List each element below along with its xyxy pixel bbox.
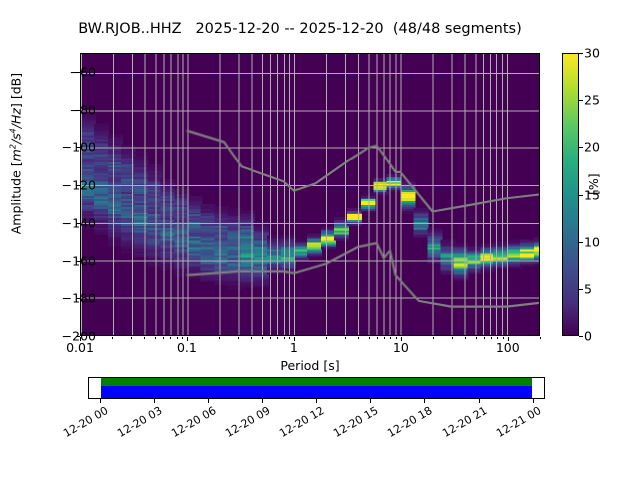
x-tick-minor bbox=[358, 337, 359, 339]
x-tick-label: 10 bbox=[361, 340, 441, 355]
colorbar-tick-mark bbox=[579, 195, 583, 196]
x-tick-minor bbox=[177, 337, 178, 339]
timeline-tick-label: 12-20 21 bbox=[434, 404, 489, 443]
ppsd-figure: BW.RJOB..HHZ 2025-12-20 -- 2025-12-20 (4… bbox=[0, 0, 640, 480]
y-tick-mark bbox=[76, 185, 80, 186]
x-tick-minor bbox=[112, 337, 113, 339]
x-tick-minor bbox=[345, 337, 346, 339]
colorbar-tick-mark bbox=[579, 336, 583, 337]
x-tick-minor bbox=[465, 337, 466, 339]
colorbar-tick-label: 10 bbox=[584, 234, 624, 249]
coverage-band-green bbox=[101, 378, 532, 386]
x-tick-minor bbox=[238, 337, 239, 339]
x-tick-label: 100 bbox=[468, 340, 548, 355]
timeline-tick-mark bbox=[208, 399, 209, 403]
coverage-band-blue bbox=[101, 386, 532, 398]
page-title: BW.RJOB..HHZ 2025-12-20 -- 2025-12-20 (4… bbox=[0, 21, 600, 37]
x-tick-minor bbox=[369, 337, 370, 339]
x-tick-minor bbox=[503, 337, 504, 339]
timeline-tick-label: 12-20 00 bbox=[55, 404, 110, 443]
colorbar-tick-label: 30 bbox=[584, 46, 624, 61]
y-tick-mark bbox=[76, 72, 80, 73]
colorbar-tick-mark bbox=[579, 53, 583, 54]
x-tick-minor bbox=[484, 337, 485, 339]
x-tick-minor bbox=[170, 337, 171, 339]
coverage-timeline[interactable] bbox=[88, 377, 545, 399]
x-tick-mark bbox=[80, 337, 81, 341]
x-tick-minor bbox=[326, 337, 327, 339]
x-tick-label: 0.01 bbox=[40, 340, 120, 355]
x-tick-minor bbox=[182, 337, 183, 339]
x-tick-minor bbox=[262, 337, 263, 339]
y-tick-label: −180 bbox=[0, 291, 96, 306]
colorbar-tick-label: 0 bbox=[584, 329, 624, 344]
x-tick-label: 0.1 bbox=[147, 340, 227, 355]
timeline-tick-mark bbox=[316, 399, 317, 403]
x-axis-label: Period [s] bbox=[80, 358, 540, 373]
x-tick-label: 1 bbox=[254, 340, 334, 355]
colorbar-tick-mark bbox=[579, 100, 583, 101]
x-tick-minor bbox=[289, 337, 290, 339]
y-tick-label: −140 bbox=[0, 215, 96, 230]
x-tick-minor bbox=[540, 337, 541, 339]
y-tick-mark bbox=[76, 298, 80, 299]
timeline-tick-label: 12-20 06 bbox=[164, 404, 219, 443]
x-tick-mark bbox=[187, 337, 188, 341]
timeline-tick-label: 12-20 03 bbox=[109, 404, 164, 443]
y-tick-mark bbox=[76, 223, 80, 224]
timeline-tick-label: 12-20 09 bbox=[218, 404, 273, 443]
x-tick-minor bbox=[163, 337, 164, 339]
x-tick-minor bbox=[452, 337, 453, 339]
timeline-tick-label: 12-20 12 bbox=[272, 404, 327, 443]
x-tick-mark bbox=[294, 337, 295, 341]
timeline-tick-mark bbox=[479, 399, 480, 403]
x-tick-mark bbox=[401, 337, 402, 341]
timeline-tick-mark bbox=[154, 399, 155, 403]
y-tick-mark bbox=[76, 147, 80, 148]
colorbar-tick-mark bbox=[579, 242, 583, 243]
x-tick-minor bbox=[390, 337, 391, 339]
psd-histogram-canvas bbox=[81, 54, 539, 335]
x-tick-minor bbox=[284, 337, 285, 339]
timeline-tick-mark bbox=[533, 399, 534, 403]
y-tick-label: −60 bbox=[0, 64, 96, 79]
colorbar-tick-label: 25 bbox=[584, 93, 624, 108]
colorbar bbox=[562, 53, 579, 336]
y-tick-label: −80 bbox=[0, 102, 96, 117]
timeline-tick-mark bbox=[100, 399, 101, 403]
x-tick-minor bbox=[144, 337, 145, 339]
timeline-tick-label: 12-20 15 bbox=[326, 404, 381, 443]
colorbar-tick-mark bbox=[579, 289, 583, 290]
timeline-tick-mark bbox=[424, 399, 425, 403]
timeline-tick-label: 12-21 00 bbox=[488, 404, 543, 443]
colorbar-tick-label: 20 bbox=[584, 140, 624, 155]
ppsd-plot-area[interactable] bbox=[80, 53, 540, 336]
timeline-tick-mark bbox=[370, 399, 371, 403]
x-tick-minor bbox=[433, 337, 434, 339]
y-tick-mark bbox=[76, 110, 80, 111]
y-tick-mark bbox=[76, 261, 80, 262]
x-tick-minor bbox=[491, 337, 492, 339]
x-tick-minor bbox=[270, 337, 271, 339]
y-tick-label: −160 bbox=[0, 253, 96, 268]
x-tick-minor bbox=[384, 337, 385, 339]
x-tick-minor bbox=[131, 337, 132, 339]
x-tick-minor bbox=[497, 337, 498, 339]
x-tick-minor bbox=[377, 337, 378, 339]
x-tick-minor bbox=[396, 337, 397, 339]
y-tick-label: −100 bbox=[0, 140, 96, 155]
timeline-tick-label: 12-20 18 bbox=[380, 404, 435, 443]
timeline-tick-mark bbox=[262, 399, 263, 403]
x-tick-minor bbox=[251, 337, 252, 339]
x-tick-mark bbox=[508, 337, 509, 341]
colorbar-label: [%] bbox=[586, 173, 601, 195]
x-tick-minor bbox=[219, 337, 220, 339]
x-tick-minor bbox=[476, 337, 477, 339]
x-tick-minor bbox=[277, 337, 278, 339]
y-tick-label: −120 bbox=[0, 178, 96, 193]
colorbar-tick-mark bbox=[579, 147, 583, 148]
colorbar-tick-label: 5 bbox=[584, 281, 624, 296]
x-tick-minor bbox=[155, 337, 156, 339]
